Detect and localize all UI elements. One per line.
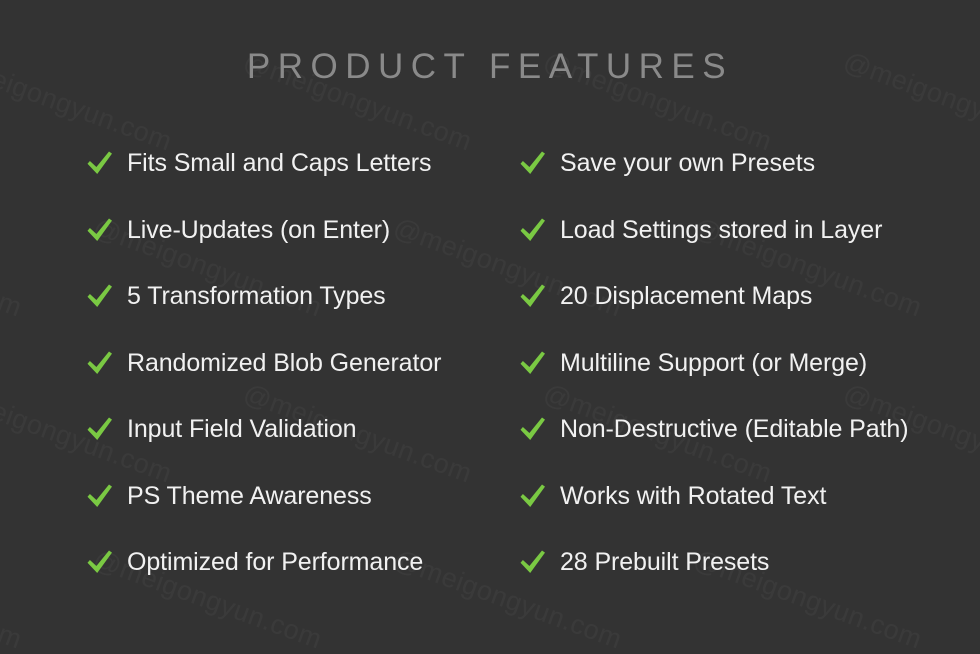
feature-item: Non-Destructive (Editable Path) bbox=[518, 414, 978, 481]
feature-label: Works with Rotated Text bbox=[560, 481, 826, 511]
feature-item: Works with Rotated Text bbox=[518, 481, 978, 548]
feature-item: Randomized Blob Generator bbox=[85, 348, 545, 415]
check-icon bbox=[518, 349, 548, 379]
feature-column-right: Save your own PresetsLoad Settings store… bbox=[518, 148, 978, 614]
check-icon bbox=[85, 415, 115, 445]
check-icon bbox=[518, 548, 548, 578]
check-icon bbox=[518, 482, 548, 512]
feature-item: PS Theme Awareness bbox=[85, 481, 545, 548]
feature-item: 28 Prebuilt Presets bbox=[518, 547, 978, 614]
check-icon bbox=[518, 415, 548, 445]
feature-label: Load Settings stored in Layer bbox=[560, 215, 882, 245]
check-icon bbox=[85, 149, 115, 179]
feature-item: Optimized for Performance bbox=[85, 547, 545, 614]
check-icon bbox=[85, 482, 115, 512]
feature-label: Randomized Blob Generator bbox=[127, 348, 441, 378]
feature-label: PS Theme Awareness bbox=[127, 481, 372, 511]
feature-label: Non-Destructive (Editable Path) bbox=[560, 414, 908, 444]
feature-label: 20 Displacement Maps bbox=[560, 281, 812, 311]
feature-column-left: Fits Small and Caps LettersLive-Updates … bbox=[85, 148, 545, 614]
check-icon bbox=[85, 216, 115, 246]
feature-label: 28 Prebuilt Presets bbox=[560, 547, 769, 577]
feature-label: Input Field Validation bbox=[127, 414, 356, 444]
feature-item: Multiline Support (or Merge) bbox=[518, 348, 978, 415]
feature-item: Live-Updates (on Enter) bbox=[85, 215, 545, 282]
product-features-slide: @meigongyun.com@meigongyun.com@meigongyu… bbox=[0, 0, 980, 654]
check-icon bbox=[85, 349, 115, 379]
feature-label: Optimized for Performance bbox=[127, 547, 423, 577]
feature-item: Input Field Validation bbox=[85, 414, 545, 481]
feature-label: Fits Small and Caps Letters bbox=[127, 148, 431, 178]
check-icon bbox=[85, 282, 115, 312]
feature-label: 5 Transformation Types bbox=[127, 281, 386, 311]
check-icon bbox=[518, 216, 548, 246]
feature-item: Load Settings stored in Layer bbox=[518, 215, 978, 282]
feature-item: Fits Small and Caps Letters bbox=[85, 148, 545, 215]
check-icon bbox=[85, 548, 115, 578]
check-icon bbox=[518, 282, 548, 312]
feature-item: 20 Displacement Maps bbox=[518, 281, 978, 348]
feature-label: Save your own Presets bbox=[560, 148, 815, 178]
check-icon bbox=[518, 149, 548, 179]
features-section: Fits Small and Caps LettersLive-Updates … bbox=[0, 0, 980, 654]
feature-item: Save your own Presets bbox=[518, 148, 978, 215]
feature-item: 5 Transformation Types bbox=[85, 281, 545, 348]
feature-label: Live-Updates (on Enter) bbox=[127, 215, 390, 245]
feature-label: Multiline Support (or Merge) bbox=[560, 348, 867, 378]
